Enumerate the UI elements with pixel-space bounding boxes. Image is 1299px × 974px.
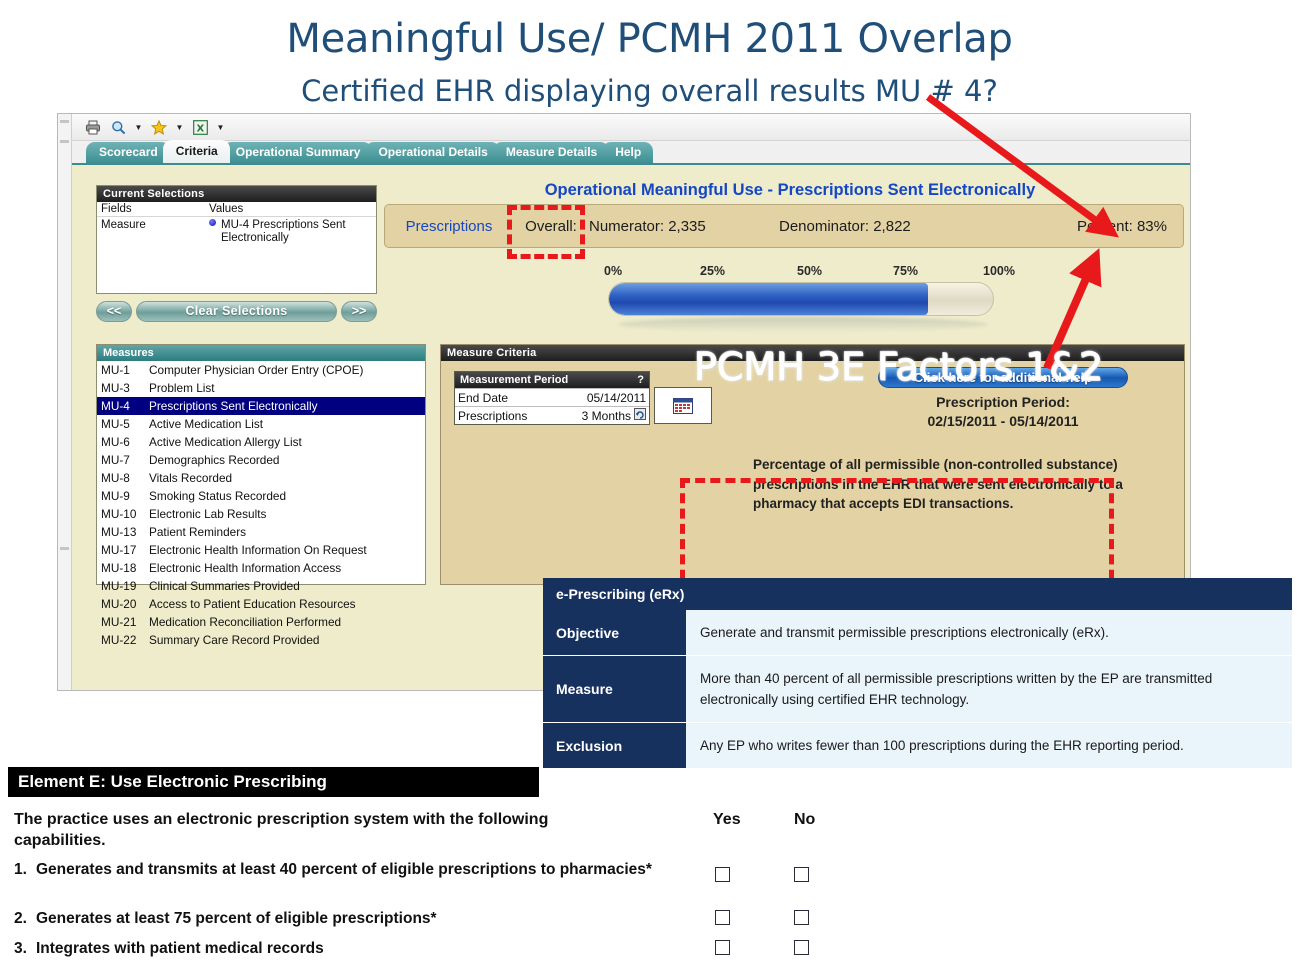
measure-id: MU-18 — [101, 559, 149, 577]
favorite-dropdown-caret[interactable]: ▼ — [173, 117, 186, 137]
measure-row[interactable]: MU-1Computer Physician Order Entry (CPOE… — [97, 361, 425, 379]
gauge-tick-100: 100% — [983, 264, 1015, 278]
prescription-period: Prescription Period: 02/15/2011 - 05/14/… — [878, 393, 1128, 431]
tab-bar: Scorecard Criteria Operational Summary O… — [72, 141, 1190, 165]
tab-help[interactable]: Help — [602, 142, 653, 163]
current-selections-row[interactable]: Measure MU-4 Prescriptions Sent Electron… — [97, 217, 376, 245]
item-number: 3. — [14, 939, 36, 959]
measures-list[interactable]: MU-1Computer Physician Order Entry (CPOE… — [97, 361, 425, 649]
cycle-icon[interactable] — [634, 408, 649, 423]
page-title: Meaningful Use/ PCMH 2011 Overlap — [0, 16, 1299, 62]
excel-dropdown-caret[interactable]: ▼ — [214, 117, 227, 137]
checkbox-no-2[interactable] — [794, 910, 809, 925]
tab-operational-details[interactable]: Operational Details — [365, 142, 499, 163]
measure-name: Summary Care Record Provided — [149, 633, 319, 647]
column-header-values: Values — [209, 203, 243, 215]
end-date-row[interactable]: End Date 05/14/2011 — [455, 388, 649, 406]
measure-name: Electronic Health Information On Request — [149, 543, 367, 557]
stat-percent: Percent: 83% — [997, 218, 1183, 235]
svg-text:X: X — [196, 123, 204, 134]
gauge-fill — [609, 283, 928, 315]
erx-row-text: More than 40 percent of all permissible … — [686, 656, 1292, 722]
measure-description: Percentage of all permissible (non-contr… — [753, 455, 1153, 514]
measure-name: Vitals Recorded — [149, 471, 232, 485]
measure-id: MU-17 — [101, 541, 149, 559]
measure-row[interactable]: MU-4Prescriptions Sent Electronically — [97, 397, 425, 415]
measure-id: MU-22 — [101, 631, 149, 649]
stat-numerator: Numerator: 2,335 — [589, 218, 779, 235]
measure-name: Access to Patient Education Resources — [149, 597, 356, 611]
measure-name: Prescriptions Sent Electronically — [149, 399, 318, 413]
measure-id: MU-21 — [101, 613, 149, 631]
column-header-fields: Fields — [101, 203, 209, 215]
item-number: 2. — [14, 909, 36, 929]
erx-row-label: Exclusion — [543, 723, 686, 768]
search-dropdown-caret[interactable]: ▼ — [132, 117, 145, 137]
tab-measure-details[interactable]: Measure Details — [493, 142, 609, 163]
measure-row[interactable]: MU-9Smoking Status Recorded — [97, 487, 425, 505]
measure-row[interactable]: MU-7Demographics Recorded — [97, 451, 425, 469]
selection-toolbar: << Clear Selections >> — [96, 300, 377, 322]
measure-id: MU-19 — [101, 577, 149, 595]
measure-name: Medication Reconciliation Performed — [149, 615, 341, 629]
measures-panel: Measures MU-1Computer Physician Order En… — [96, 344, 426, 585]
measure-name: Patient Reminders — [149, 525, 246, 539]
tab-criteria[interactable]: Criteria — [163, 140, 230, 163]
prescription-period-value: 02/15/2011 - 05/14/2011 — [878, 412, 1128, 431]
search-icon[interactable] — [107, 117, 129, 137]
erx-row-label: Measure — [543, 656, 686, 722]
selection-field: Measure — [101, 219, 209, 245]
prescription-period-label: Prescription Period: — [878, 393, 1128, 412]
measure-id: MU-20 — [101, 595, 149, 613]
prescriptions-period-label: Prescriptions — [458, 409, 556, 423]
current-selections-panel: Current Selections Fields Values Measure… — [96, 185, 377, 294]
column-header-no: No — [794, 811, 815, 829]
measure-name: Demographics Recorded — [149, 453, 280, 467]
prescriptions-period-value: 3 Months — [556, 409, 634, 423]
measure-row[interactable]: MU-8Vitals Recorded — [97, 469, 425, 487]
prescriptions-period-row[interactable]: Prescriptions 3 Months — [455, 406, 649, 424]
measure-row[interactable]: MU-21Medication Reconciliation Performed — [97, 613, 425, 631]
measure-row[interactable]: MU-19Clinical Summaries Provided — [97, 577, 425, 595]
measure-row[interactable]: MU-10Electronic Lab Results — [97, 505, 425, 523]
pcmh-annotation: PCMH 3E Factors 1&2 — [694, 345, 1103, 389]
measure-id: MU-6 — [101, 433, 149, 451]
current-selections-header-row: Fields Values — [97, 202, 376, 217]
measure-id: MU-13 — [101, 523, 149, 541]
tab-scorecard[interactable]: Scorecard — [86, 142, 170, 163]
measure-name: Problem List — [149, 381, 215, 395]
measure-id: MU-5 — [101, 415, 149, 433]
item-text: Generates and transmits at least 40 perc… — [36, 860, 652, 880]
gauge-tick-25: 25% — [700, 264, 725, 278]
element-e-item-2: 2. Generates at least 75 percent of elig… — [14, 909, 654, 929]
measure-id: MU-7 — [101, 451, 149, 469]
erx-row: MeasureMore than 40 percent of all permi… — [543, 656, 1292, 723]
gauge-tick-50: 50% — [797, 264, 822, 278]
page-subtitle: Certified EHR displaying overall results… — [0, 74, 1299, 108]
measure-name: Electronic Health Information Access — [149, 561, 341, 575]
gauge-reflection — [618, 317, 988, 332]
report-title: Operational Meaningful Use - Prescriptio… — [390, 181, 1190, 200]
favorite-icon[interactable] — [148, 117, 170, 137]
measure-row[interactable]: MU-20Access to Patient Education Resourc… — [97, 595, 425, 613]
end-date-value: 05/14/2011 — [556, 391, 649, 405]
erx-row: ExclusionAny EP who writes fewer than 10… — [543, 723, 1292, 769]
measure-name: Smoking Status Recorded — [149, 489, 286, 503]
left-rail — [58, 114, 72, 690]
print-icon[interactable] — [82, 117, 104, 137]
checkbox-yes-3[interactable] — [715, 940, 730, 955]
progress-gauge: 0% 25% 50% 75% 100% — [590, 264, 1010, 336]
measure-name: Electronic Lab Results — [149, 507, 266, 521]
measure-id: MU-9 — [101, 487, 149, 505]
measure-row[interactable]: MU-18Electronic Health Information Acces… — [97, 559, 425, 577]
measure-row[interactable]: MU-13Patient Reminders — [97, 523, 425, 541]
gauge-tick-75: 75% — [893, 264, 918, 278]
previous-selection-button[interactable]: << — [96, 301, 132, 322]
checkbox-yes-1[interactable] — [715, 867, 730, 882]
calendar-picker-button[interactable] — [654, 387, 712, 424]
item-number: 1. — [14, 860, 36, 880]
tab-operational-summary[interactable]: Operational Summary — [223, 142, 373, 163]
measurement-period-box: Measurement Period ? End Date 05/14/2011… — [454, 371, 650, 425]
measure-row[interactable]: MU-5Active Medication List — [97, 415, 425, 433]
measure-id: MU-3 — [101, 379, 149, 397]
excel-export-icon[interactable]: X — [189, 117, 211, 137]
stat-denominator: Denominator: 2,822 — [779, 218, 997, 235]
measurement-period-label: Measurement Period — [460, 372, 568, 388]
measure-row[interactable]: MU-17Electronic Health Information On Re… — [97, 541, 425, 559]
erx-table-title: e-Prescribing (eRx) — [543, 578, 1292, 610]
next-selection-button[interactable]: >> — [341, 301, 377, 322]
element-e-section: Element E: Use Electronic Prescribing Th… — [8, 767, 1291, 797]
measure-id: MU-8 — [101, 469, 149, 487]
stat-prescriptions-label[interactable]: Prescriptions — [385, 218, 513, 235]
gauge-tick-0: 0% — [604, 264, 622, 278]
measure-id: MU-1 — [101, 361, 149, 379]
gauge-track — [608, 282, 994, 316]
erx-row-text: Any EP who writes fewer than 100 prescri… — [686, 723, 1292, 768]
measurement-period-header: Measurement Period ? — [455, 372, 649, 388]
element-e-item-3: 3. Integrates with patient medical recor… — [14, 939, 654, 959]
clear-selections-button[interactable]: Clear Selections — [136, 301, 337, 322]
end-date-label: End Date — [458, 391, 556, 405]
bullet-icon — [209, 219, 216, 226]
measure-id: MU-10 — [101, 505, 149, 523]
item-text: Integrates with patient medical records — [36, 939, 324, 959]
element-e-item-1: 1. Generates and transmits at least 40 p… — [14, 860, 654, 880]
erx-table-rows: ObjectiveGenerate and transmit permissib… — [543, 610, 1292, 769]
current-selections-title: Current Selections — [97, 186, 376, 202]
help-question-icon[interactable]: ? — [637, 372, 644, 388]
measures-title: Measures — [97, 345, 425, 361]
erx-row: ObjectiveGenerate and transmit permissib… — [543, 610, 1292, 656]
measure-row[interactable]: MU-6Active Medication Allergy List — [97, 433, 425, 451]
erx-row-label: Objective — [543, 610, 686, 655]
checkbox-no-1[interactable] — [794, 867, 809, 882]
selection-value: MU-4 Prescriptions Sent Electronically — [221, 219, 371, 245]
toolbar: ▼ ▼ X ▼ — [72, 114, 1190, 141]
item-text: Generates at least 75 percent of eligibl… — [36, 909, 437, 929]
measure-id: MU-4 — [101, 397, 149, 415]
checkbox-yes-2[interactable] — [715, 910, 730, 925]
stat-summary-bar: Prescriptions Overall: Numerator: 2,335 … — [384, 204, 1184, 248]
measure-row[interactable]: MU-3Problem List — [97, 379, 425, 397]
measure-name: Active Medication List — [149, 417, 263, 431]
checkbox-no-3[interactable] — [794, 940, 809, 955]
erx-table: e-Prescribing (eRx) ObjectiveGenerate an… — [543, 578, 1292, 769]
element-e-title: Element E: Use Electronic Prescribing — [8, 767, 539, 797]
erx-row-text: Generate and transmit permissible prescr… — [686, 610, 1292, 655]
stat-overall-label: Overall: — [513, 218, 589, 235]
column-header-yes: Yes — [713, 811, 741, 829]
measure-name: Active Medication Allergy List — [149, 435, 302, 449]
element-e-intro: The practice uses an electronic prescrip… — [14, 809, 639, 851]
measure-name: Computer Physician Order Entry (CPOE) — [149, 363, 363, 377]
measure-name: Clinical Summaries Provided — [149, 579, 300, 593]
measure-row[interactable]: MU-22Summary Care Record Provided — [97, 631, 425, 649]
